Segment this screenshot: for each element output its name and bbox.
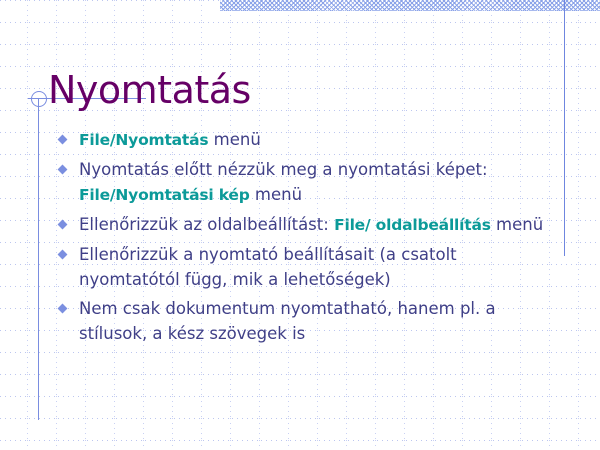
- list-item: Ellenőrizzük az oldalbeállítást: File/ o…: [58, 212, 558, 238]
- diamond-bullet-icon: [58, 165, 68, 175]
- decorative-circle: [31, 91, 47, 107]
- left-vertical-rule: [38, 98, 39, 420]
- list-item-text: menü: [491, 215, 543, 234]
- menu-path-emphasis: File/Nyomtatás: [79, 131, 208, 149]
- list-item-text: menü: [250, 185, 302, 204]
- menu-path-emphasis: File/Nyomtatási kép: [79, 186, 250, 204]
- list-item: Nyomtatás előtt nézzük meg a nyomtatási …: [58, 157, 558, 208]
- diamond-bullet-icon: [58, 220, 68, 230]
- page-title: Nyomtatás: [48, 71, 251, 109]
- list-item-text: Ellenőrizzük a nyomtató beállításait (a …: [79, 245, 457, 289]
- diamond-bullet-icon: [58, 135, 68, 145]
- list-item: Nem csak dokumentum nyomtatható, hanem p…: [58, 296, 558, 346]
- diamond-bullet-icon: [58, 250, 68, 260]
- right-vertical-rule: [564, 0, 565, 256]
- list-item: File/Nyomtatás menü: [58, 127, 558, 153]
- bullet-list: File/Nyomtatás menüNyomtatás előtt nézzü…: [58, 127, 558, 350]
- menu-path-emphasis: File/ oldalbeállítás: [334, 216, 491, 234]
- list-item-text: Ellenőrizzük az oldalbeállítást:: [79, 215, 334, 234]
- list-item-text: Nem csak dokumentum nyomtatható, hanem p…: [79, 299, 496, 343]
- list-item: Ellenőrizzük a nyomtató beállításait (a …: [58, 242, 558, 292]
- list-item-text: menü: [208, 130, 260, 149]
- list-item-text: Nyomtatás előtt nézzük meg a nyomtatási …: [79, 160, 488, 179]
- diamond-bullet-icon: [58, 304, 68, 314]
- dotted-header-band: [220, 0, 600, 11]
- slide-canvas: Nyomtatás File/Nyomtatás menüNyomtatás e…: [0, 0, 600, 450]
